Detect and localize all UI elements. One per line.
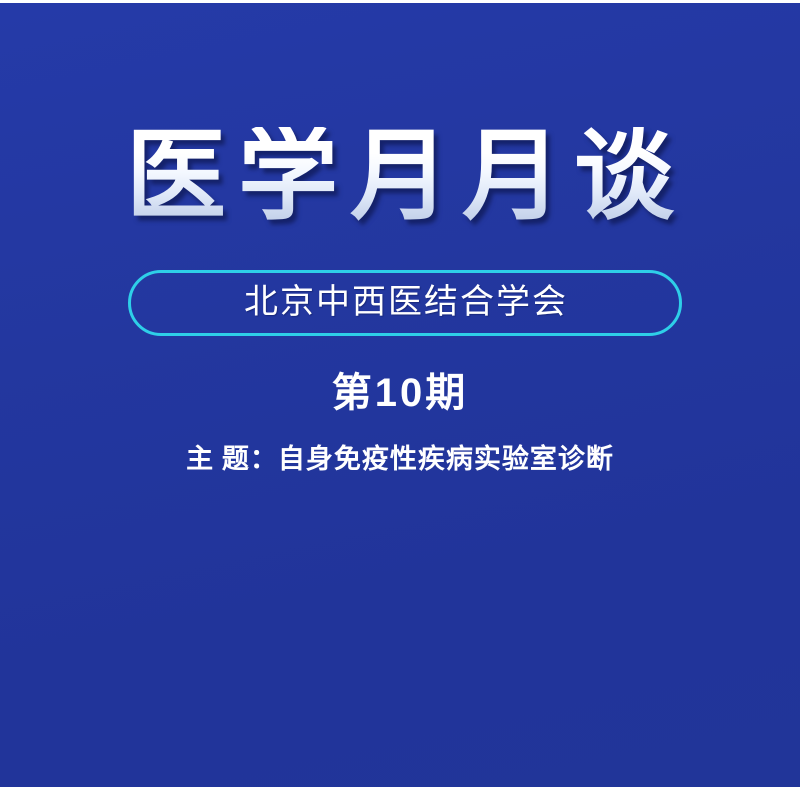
topic-line: 主 题：自身免疫性疾病实验室诊断 bbox=[0, 443, 800, 475]
poster-root: 医学月月谈 北京中西医结合学会 第10期 主 题：自身免疫性疾病实验室诊断 bbox=[0, 0, 800, 790]
page-title: 医学月月谈 bbox=[126, 127, 686, 227]
organization-name: 北京中西医结合学会 bbox=[244, 286, 568, 320]
issue-label: 第10期 bbox=[0, 373, 800, 413]
poster-background: 医学月月谈 北京中西医结合学会 第10期 主 题：自身免疫性疾病实验室诊断 bbox=[0, 3, 800, 787]
topic-block: 主 题：自身免疫性疾病实验室诊断 bbox=[0, 443, 800, 475]
title-block: 医学月月谈 bbox=[0, 127, 800, 227]
organization-badge: 北京中西医结合学会 bbox=[128, 270, 682, 336]
issue-block: 第10期 bbox=[0, 373, 800, 413]
